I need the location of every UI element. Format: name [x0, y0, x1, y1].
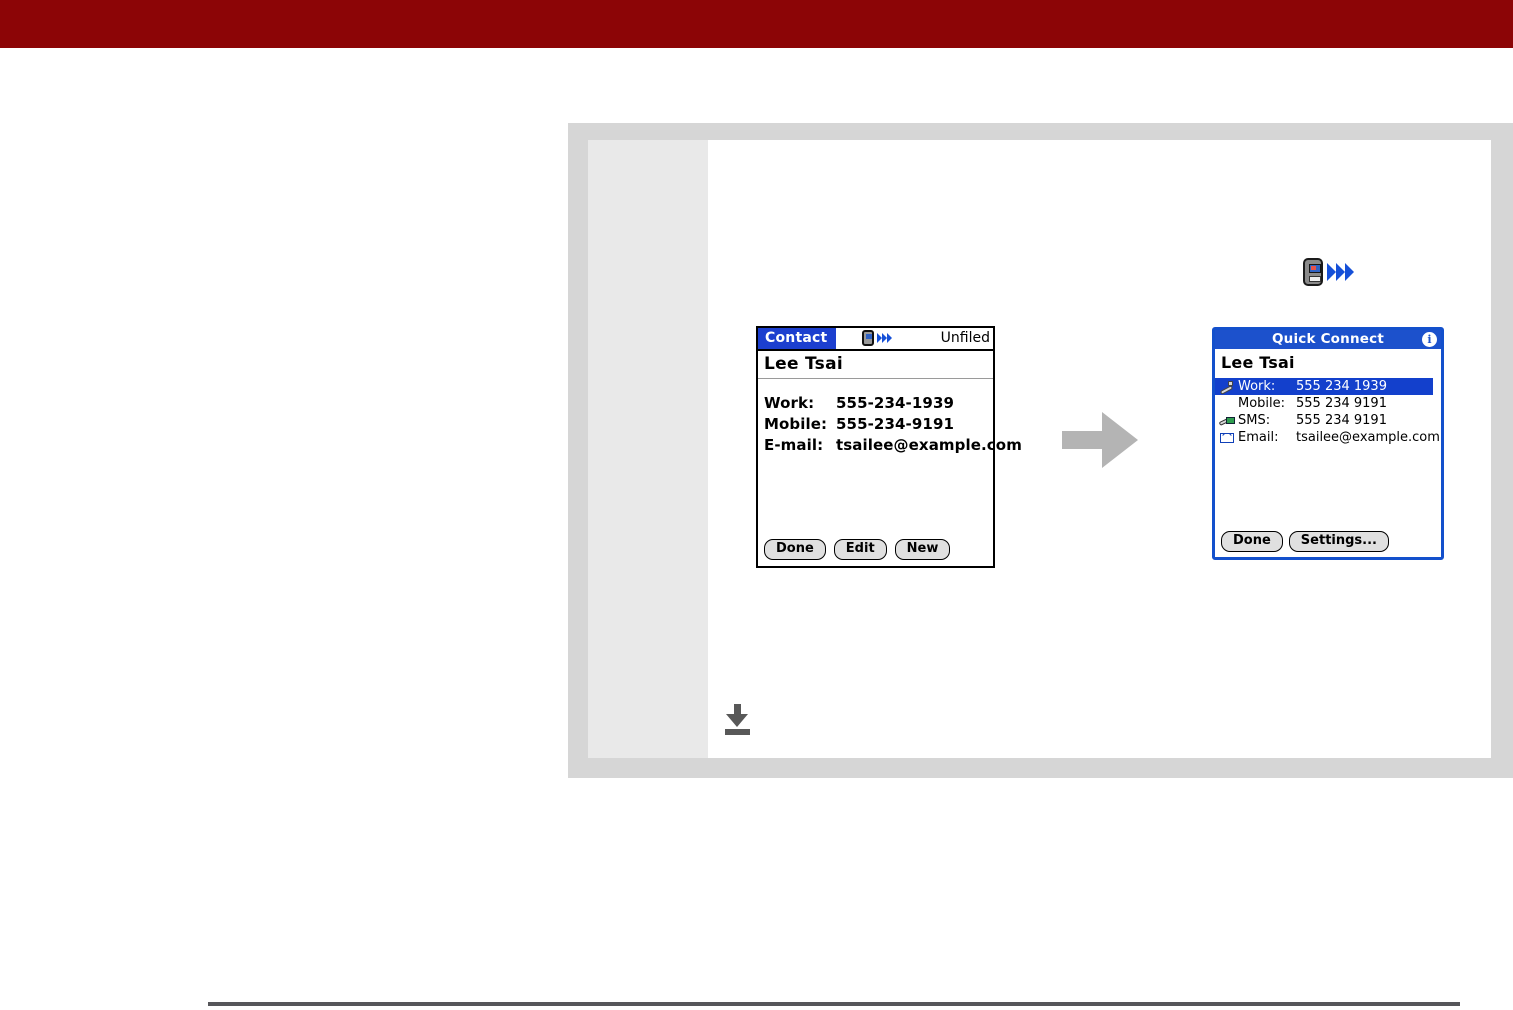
- quick-connect-list: Work: 555 234 1939 Mobile: 555 234 9191 …: [1215, 376, 1441, 446]
- arrow-head: [1102, 412, 1138, 468]
- list-item-sms[interactable]: SMS: 555 234 9191: [1215, 412, 1441, 429]
- row-value: 555 234 1939: [1296, 379, 1387, 394]
- phone-handset-icon: [1219, 380, 1238, 394]
- quick-connect-icon[interactable]: [862, 330, 900, 347]
- panel-sidebar: [588, 140, 708, 758]
- category-label[interactable]: Unfiled: [941, 328, 990, 349]
- field-value[interactable]: 555-234-1939: [836, 393, 954, 414]
- field-label: Work:: [764, 393, 836, 414]
- info-icon[interactable]: i: [1422, 332, 1437, 347]
- chevron-right-icon: [887, 333, 892, 343]
- contact-field-row: Mobile: 555-234-9191: [764, 414, 993, 435]
- field-label: Mobile:: [764, 414, 836, 435]
- chevron-right-icon: [1327, 263, 1336, 281]
- arrow-baseline: [725, 729, 750, 735]
- field-value[interactable]: 555-234-9191: [836, 414, 954, 435]
- no-icon-placeholder: [1219, 397, 1238, 411]
- field-value[interactable]: tsailee@example.com: [836, 435, 1022, 456]
- quick-connect-title: Quick Connect: [1272, 331, 1384, 347]
- edit-button[interactable]: Edit: [834, 539, 887, 560]
- row-value: 555 234 9191: [1296, 413, 1387, 428]
- chevron-right-icon: [1336, 263, 1345, 281]
- contact-button-bar: Done Edit New: [764, 539, 950, 560]
- contact-tab[interactable]: Contact: [758, 328, 836, 349]
- quick-connect-button-bar: Done Settings...: [1221, 531, 1389, 552]
- row-value: 555 234 9191: [1296, 396, 1387, 411]
- contact-field-row: E-mail: tsailee@example.com: [764, 435, 993, 456]
- field-label: E-mail:: [764, 435, 836, 456]
- contact-fields: Work: 555-234-1939 Mobile: 555-234-9191 …: [758, 379, 993, 456]
- list-item-work[interactable]: Work: 555 234 1939: [1215, 378, 1433, 395]
- done-button[interactable]: Done: [764, 539, 826, 560]
- chevron-right-icon: [1345, 263, 1354, 281]
- contact-screen: Contact Unfiled Lee Tsai Work: 555-234-1…: [756, 326, 995, 568]
- quick-connect-titlebar: Quick Connect i: [1215, 330, 1441, 349]
- contact-name: Lee Tsai: [758, 351, 993, 376]
- contact-titlebar: Contact Unfiled: [758, 328, 993, 351]
- done-button[interactable]: Done: [1221, 531, 1283, 552]
- contact-name: Lee Tsai: [1215, 349, 1441, 376]
- quick-connect-icon: [1303, 258, 1359, 288]
- footer-divider: [208, 1002, 1460, 1006]
- download-icon[interactable]: [724, 704, 751, 735]
- top-banner: [0, 0, 1513, 48]
- quick-connect-screen: Quick Connect i Lee Tsai Work: 555 234 1…: [1212, 327, 1444, 560]
- row-label: Mobile:: [1238, 396, 1296, 411]
- row-label: Work:: [1238, 379, 1296, 394]
- flow-arrow-right-icon: [1062, 412, 1138, 468]
- row-value: tsailee@example.com: [1296, 430, 1440, 445]
- device-screen-icon: [1309, 264, 1321, 273]
- settings-button[interactable]: Settings...: [1289, 531, 1389, 552]
- handheld-device-icon: [1303, 258, 1323, 286]
- new-button[interactable]: New: [895, 539, 951, 560]
- arrow-head-down: [726, 714, 748, 727]
- list-item-email[interactable]: Email: tsailee@example.com: [1215, 429, 1441, 446]
- row-label: SMS:: [1238, 413, 1296, 428]
- contact-field-row: Work: 555-234-1939: [764, 393, 993, 414]
- row-label: Email:: [1238, 430, 1296, 445]
- envelope-icon: [1219, 431, 1238, 445]
- device-keypad-icon: [1309, 276, 1321, 282]
- list-item-mobile[interactable]: Mobile: 555 234 9191: [1215, 395, 1441, 412]
- sms-message-icon: [1219, 414, 1238, 428]
- handheld-device-icon: [862, 330, 874, 346]
